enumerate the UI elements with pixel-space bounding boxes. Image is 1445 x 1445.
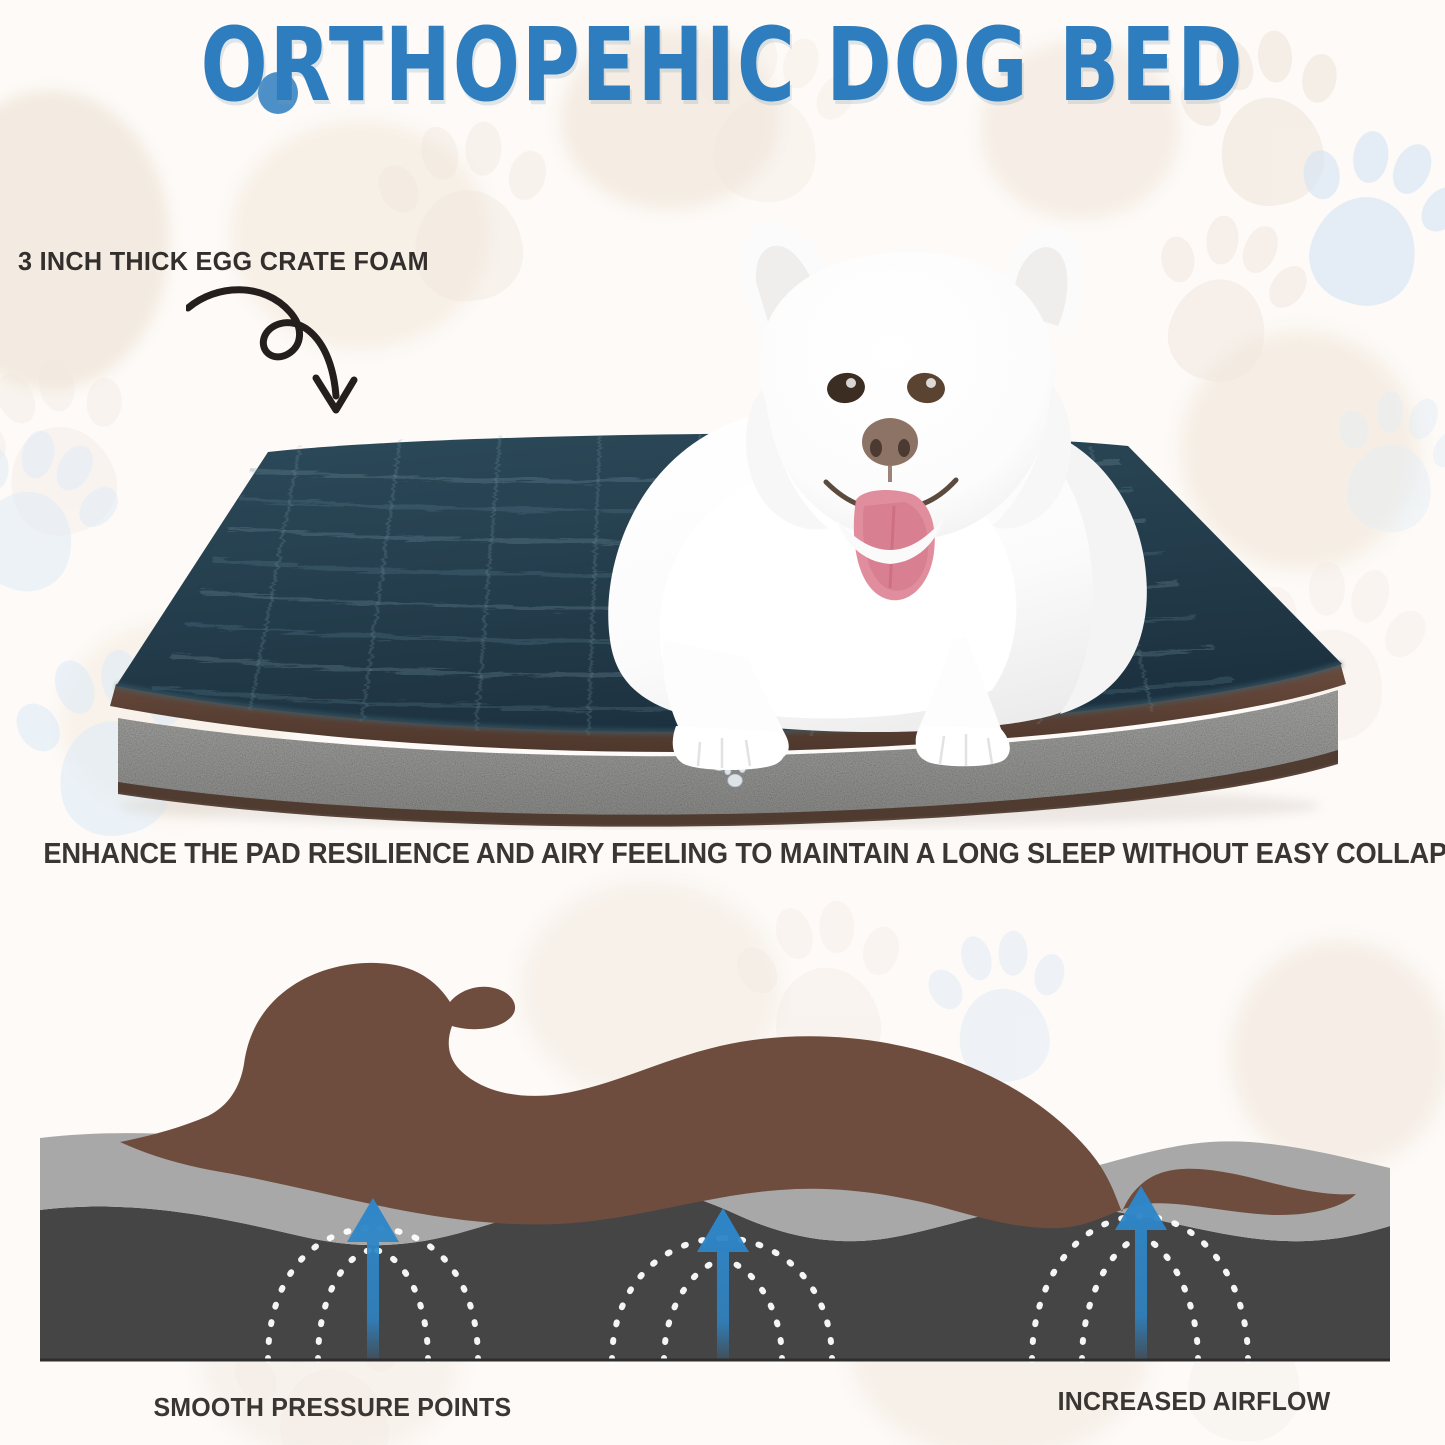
increased-airflow-label: INCREASED AIRFLOW	[1058, 1386, 1331, 1417]
smooth-pressure-points-label: SMOOTH PRESSURE POINTS	[153, 1392, 511, 1423]
product-photo	[0, 170, 1445, 830]
page-title: ORTHOPEHIC DOG BED	[58, 7, 1387, 125]
product-caption: ENHANCE THE PAD RESILIENCE AND AIRY FEEL…	[43, 838, 1401, 871]
product-infographic: ORTHOPEHIC DOG BED 3 INCH THICK EGG CRAT…	[0, 0, 1445, 1445]
cross-section-diagram	[0, 930, 1445, 1370]
